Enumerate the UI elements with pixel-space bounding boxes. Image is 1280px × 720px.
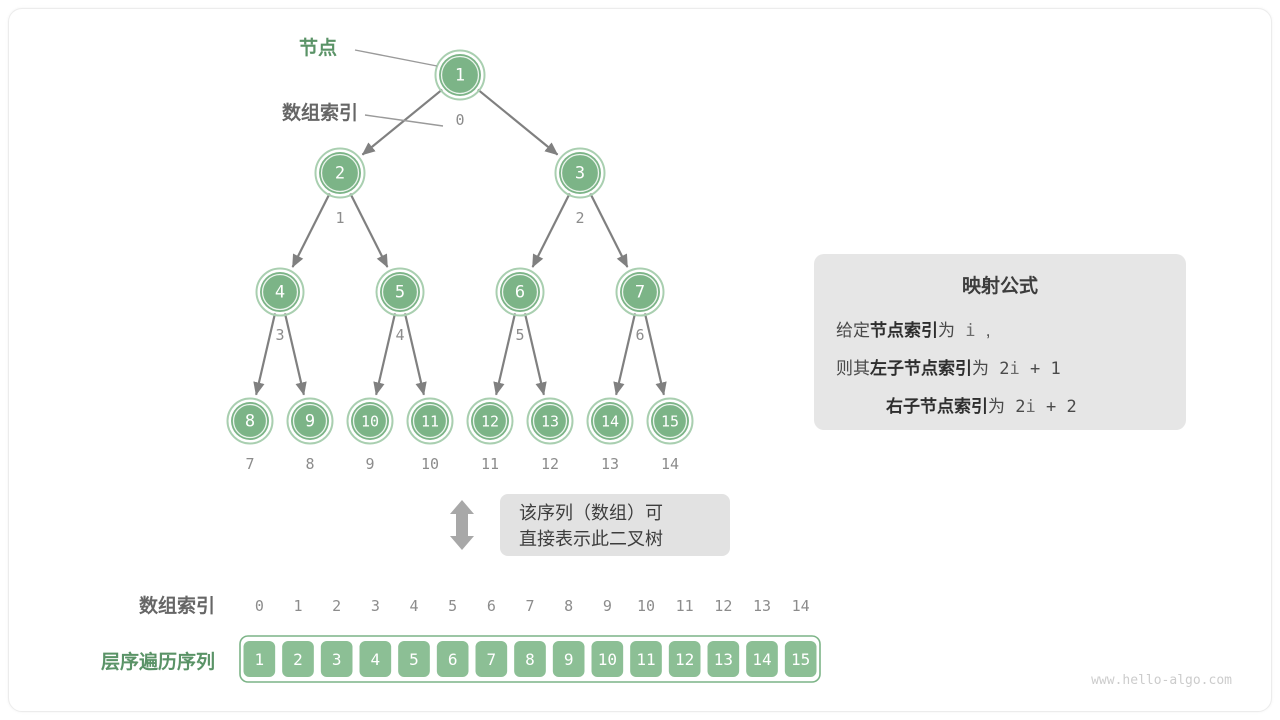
tree-node-index: 4 — [395, 326, 404, 344]
tree-node-index: 11 — [481, 455, 499, 473]
array-cell[interactable]: 7 — [475, 640, 509, 678]
annotation-array-index: 数组索引 — [282, 101, 443, 126]
array-cell[interactable]: 4 — [359, 640, 393, 678]
tree-node[interactable]: 6 — [497, 269, 544, 316]
annotation-node-label: 节点 — [299, 37, 337, 59]
annotation-array-index-leader — [365, 115, 443, 126]
double-arrow-shape — [450, 500, 474, 550]
tree-node-value: 8 — [245, 412, 255, 432]
leaf-node-indices: 7891011121314 — [245, 455, 679, 473]
tree-edge — [376, 313, 395, 394]
diagram-canvas: 123456789101112131415 0123456 7891011121… — [0, 0, 1280, 720]
annotation-node-leader — [355, 50, 437, 66]
array-cell-value: 9 — [564, 650, 574, 669]
array-cell-value: 2 — [293, 650, 303, 669]
tree-node-value: 11 — [421, 413, 439, 431]
array-cell-value: 1 — [255, 650, 265, 669]
array-cell-value: 8 — [525, 650, 535, 669]
tree-edges — [256, 90, 664, 395]
array-index-label: 8 — [564, 597, 573, 615]
array-index-label: 12 — [714, 597, 732, 615]
tree-edge — [478, 90, 558, 155]
array-index-label: 13 — [753, 597, 771, 615]
array-index-row-label: 数组索引 — [139, 594, 215, 617]
tree-edge — [362, 90, 442, 155]
array-cell-value: 11 — [636, 650, 655, 669]
array-cell-value: 15 — [791, 650, 810, 669]
array-index-row: 01234567891011121314 — [255, 597, 810, 615]
tree-node[interactable]: 10 — [348, 399, 393, 444]
tree-node-index: 8 — [305, 455, 314, 473]
array-cell-value: 14 — [752, 650, 771, 669]
tree-node-value: 9 — [305, 412, 315, 432]
tree-node-value: 14 — [601, 413, 619, 431]
array-cell-value: 10 — [598, 650, 617, 669]
tree-node-index: 9 — [365, 455, 374, 473]
tree-node-value: 10 — [361, 413, 379, 431]
tree-node[interactable]: 2 — [316, 149, 365, 198]
tree-edge — [525, 313, 544, 394]
tree-node-index: 1 — [335, 209, 344, 227]
array-index-label: 1 — [293, 597, 302, 615]
array-index-label: 6 — [487, 597, 496, 615]
tree-node-value: 2 — [335, 164, 345, 184]
tree-node[interactable]: 1 — [436, 51, 485, 100]
mapping-formula-line-2: 则其左子节点索引为 2i + 1 — [836, 358, 1061, 379]
tree-edge — [533, 194, 570, 267]
tree-node[interactable]: 4 — [257, 269, 304, 316]
array-cell[interactable]: 6 — [436, 640, 470, 678]
array-cell[interactable]: 14 — [745, 640, 779, 678]
watermark: www.hello-algo.com — [1091, 673, 1232, 688]
array-index-label: 14 — [792, 597, 810, 615]
mapping-formula-title: 映射公式 — [962, 274, 1038, 297]
array-index-label: 10 — [637, 597, 655, 615]
array-index-label: 2 — [332, 597, 341, 615]
mapping-formula-line-3: 右子节点索引为 2i + 2 — [886, 396, 1077, 417]
tree-node-value: 5 — [395, 283, 405, 303]
array-cell[interactable]: 15 — [784, 640, 818, 678]
tree-edge — [293, 194, 330, 267]
tree-node-value: 7 — [635, 283, 645, 303]
binary-tree-array-diagram: 123456789101112131415 0123456 7891011121… — [0, 0, 1280, 720]
tree-node-value: 4 — [275, 283, 285, 303]
mapping-formula-box: 映射公式 给定节点索引为 i , 则其左子节点索引为 2i + 1 右子节点索引… — [814, 254, 1186, 430]
tree-edge — [285, 313, 304, 394]
tree-node-value: 12 — [481, 413, 499, 431]
tree-node[interactable]: 15 — [648, 399, 693, 444]
tree-node[interactable]: 3 — [556, 149, 605, 198]
array-index-label: 4 — [409, 597, 418, 615]
array-cell-value: 5 — [409, 650, 419, 669]
tree-node-index: 6 — [635, 326, 644, 344]
array-cell-value: 3 — [332, 650, 342, 669]
array-cell[interactable]: 13 — [707, 640, 741, 678]
tree-node-index: 10 — [421, 455, 439, 473]
array-index-label: 3 — [371, 597, 380, 615]
annotation-node: 节点 — [299, 37, 437, 66]
tree-node[interactable]: 7 — [617, 269, 664, 316]
sequence-caption: 该序列（数组）可 直接表示此二叉树 — [450, 494, 730, 556]
array-cell[interactable]: 8 — [513, 640, 547, 678]
tree-node-value: 3 — [575, 164, 585, 184]
array-values-row-label: 层序遍历序列 — [101, 650, 215, 673]
tree-node[interactable]: 14 — [588, 399, 633, 444]
array-cell-value: 4 — [371, 650, 381, 669]
double-arrow-icon — [450, 500, 474, 550]
array-cell-value: 7 — [487, 650, 497, 669]
tree-edge — [405, 313, 424, 394]
tree-node[interactable]: 12 — [468, 399, 513, 444]
tree-node[interactable]: 5 — [377, 269, 424, 316]
tree-edge — [256, 313, 275, 394]
array-cell-value: 6 — [448, 650, 458, 669]
array-cell[interactable]: 12 — [668, 640, 702, 678]
annotation-array-index-label: 数组索引 — [282, 101, 358, 124]
tree-node-indices: 0123456 — [275, 111, 644, 344]
tree-node-value: 1 — [455, 66, 465, 86]
tree-node-index: 14 — [661, 455, 679, 473]
sequence-caption-line-2: 直接表示此二叉树 — [519, 529, 663, 549]
array-cell[interactable]: 9 — [552, 640, 586, 678]
mapping-formula-line-1: 给定节点索引为 i , — [836, 320, 990, 341]
array-cell[interactable]: 3 — [320, 640, 354, 678]
array-index-label: 7 — [525, 597, 534, 615]
array-cells: 123456789101112131415 — [243, 640, 818, 678]
array-index-label: 9 — [603, 597, 612, 615]
tree-node-index: 12 — [541, 455, 559, 473]
array-cell[interactable]: 1 — [243, 640, 277, 678]
array-cell[interactable]: 2 — [281, 640, 315, 678]
array-cell[interactable]: 10 — [591, 640, 625, 678]
array-cell-value: 13 — [714, 650, 733, 669]
tree-edge — [590, 194, 627, 267]
tree-edge — [350, 194, 387, 267]
tree-node-index: 7 — [245, 455, 254, 473]
array-cell[interactable]: 11 — [629, 640, 663, 678]
tree-node-index: 13 — [601, 455, 619, 473]
array-index-label: 5 — [448, 597, 457, 615]
array-index-label: 11 — [676, 597, 694, 615]
tree-node-value: 15 — [661, 413, 679, 431]
tree-node-index: 5 — [515, 326, 524, 344]
tree-node-value: 6 — [515, 283, 525, 303]
tree-edge — [496, 313, 515, 394]
tree-node-index: 2 — [575, 209, 584, 227]
sequence-caption-line-1: 该序列（数组）可 — [519, 503, 663, 523]
array-cell[interactable]: 5 — [397, 640, 431, 678]
tree-node[interactable]: 11 — [408, 399, 453, 444]
tree-node[interactable]: 9 — [288, 399, 333, 444]
array-index-label: 0 — [255, 597, 264, 615]
tree-node-index: 0 — [455, 111, 464, 129]
tree-edge — [645, 313, 664, 394]
tree-edge — [616, 313, 635, 394]
array-container: 123456789101112131415 — [240, 636, 820, 682]
tree-node[interactable]: 13 — [528, 399, 573, 444]
tree-node-index: 3 — [275, 326, 284, 344]
tree-node[interactable]: 8 — [228, 399, 273, 444]
array-cell-value: 12 — [675, 650, 694, 669]
tree-node-value: 13 — [541, 413, 559, 431]
